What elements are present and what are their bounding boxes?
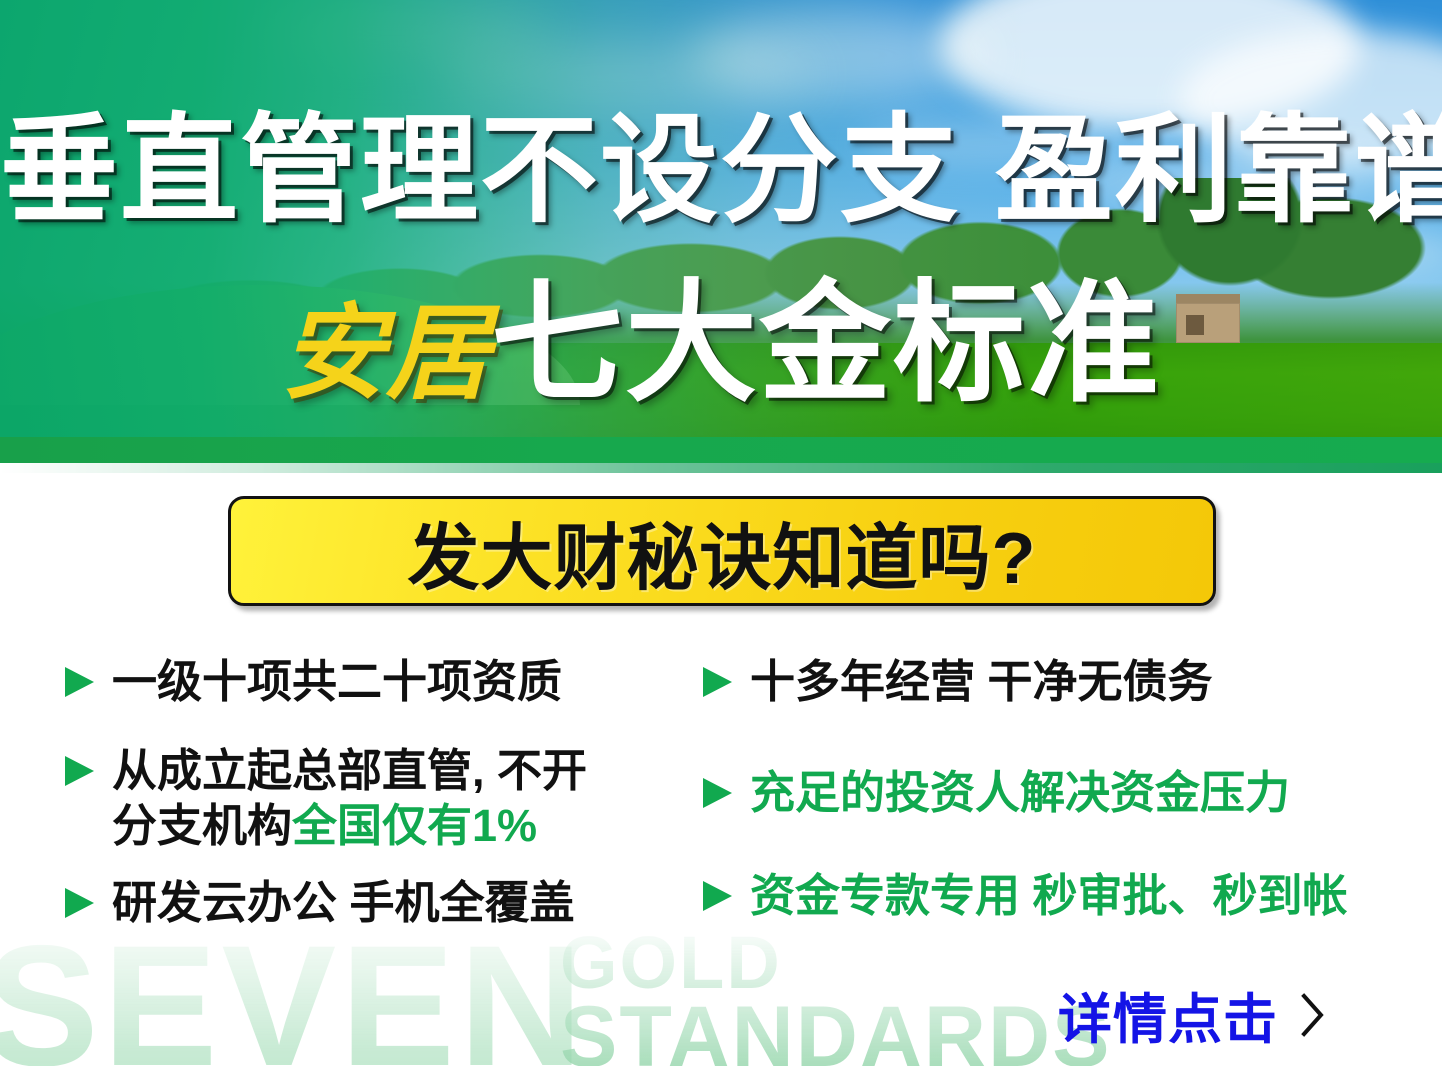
- hero-headline-primary: 垂直管理不设分支 盈利靠谱: [0, 112, 1442, 230]
- hero-bottom-green-band: [0, 437, 1442, 463]
- triangle-right-icon: [700, 776, 734, 810]
- hero-divider-strip: [0, 463, 1442, 473]
- promo-banner: 垂直管理不设分支 盈利靠谱 安居七大金标准 发大财秘诀知道吗? SEVEN GO…: [0, 0, 1442, 1066]
- hero-headline-slogan: 七大金标准: [491, 270, 1161, 417]
- feature-item-label: 从成立起总部直管, 不开 分支机构全国仅有1%: [112, 744, 587, 854]
- triangle-right-icon: [700, 879, 734, 913]
- triangle-right-icon: [62, 754, 96, 788]
- hero-section: 垂直管理不设分支 盈利靠谱 安居七大金标准: [0, 0, 1442, 463]
- feature-item: 从成立起总部直管, 不开 分支机构全国仅有1%: [62, 744, 702, 854]
- triangle-right-icon: [700, 665, 734, 699]
- hero-headline-secondary: 安居七大金标准: [0, 278, 1442, 410]
- feature-item-label: 资金专款专用 秒审批、秒到帐: [750, 869, 1348, 924]
- details-cta-button[interactable]: 详情点击: [1058, 975, 1326, 1054]
- feature-column-left: 一级十项共二十项资质 从成立起总部直管, 不开 分支机构全国仅有1%: [62, 655, 702, 957]
- feature-item: 十多年经营 干净无债务: [700, 655, 1420, 710]
- feature-item-label: 研发云办公 手机全覆盖: [112, 876, 575, 931]
- watermark-standards: STANDARDS: [560, 994, 1112, 1066]
- hero-headline-brand: 安居: [281, 296, 491, 412]
- feature-column-right: 十多年经营 干净无债务 充足的投资人解决资金压力 资金专款专用 秒审批、秒到帐: [700, 655, 1420, 950]
- feature-item-label: 十多年经营 干净无债务: [750, 655, 1213, 710]
- details-cta-label: 详情点击: [1058, 975, 1278, 1054]
- triangle-right-icon: [62, 665, 96, 699]
- feature-highlight: 全国仅有1%: [292, 800, 537, 851]
- feature-item: 资金专款专用 秒审批、秒到帐: [700, 869, 1420, 924]
- highlight-banner[interactable]: 发大财秘诀知道吗?: [228, 496, 1216, 606]
- highlight-banner-label: 发大财秘诀知道吗?: [408, 499, 1037, 604]
- feature-item-label: 充足的投资人解决资金压力: [750, 766, 1290, 821]
- feature-list: 一级十项共二十项资质 从成立起总部直管, 不开 分支机构全国仅有1%: [0, 655, 1442, 985]
- triangle-right-icon: [62, 886, 96, 920]
- feature-item: 一级十项共二十项资质: [62, 655, 702, 710]
- feature-item-label: 一级十项共二十项资质: [112, 655, 562, 710]
- chevron-right-icon: [1300, 992, 1326, 1038]
- feature-item: 研发云办公 手机全覆盖: [62, 876, 702, 931]
- feature-item: 充足的投资人解决资金压力: [700, 766, 1420, 821]
